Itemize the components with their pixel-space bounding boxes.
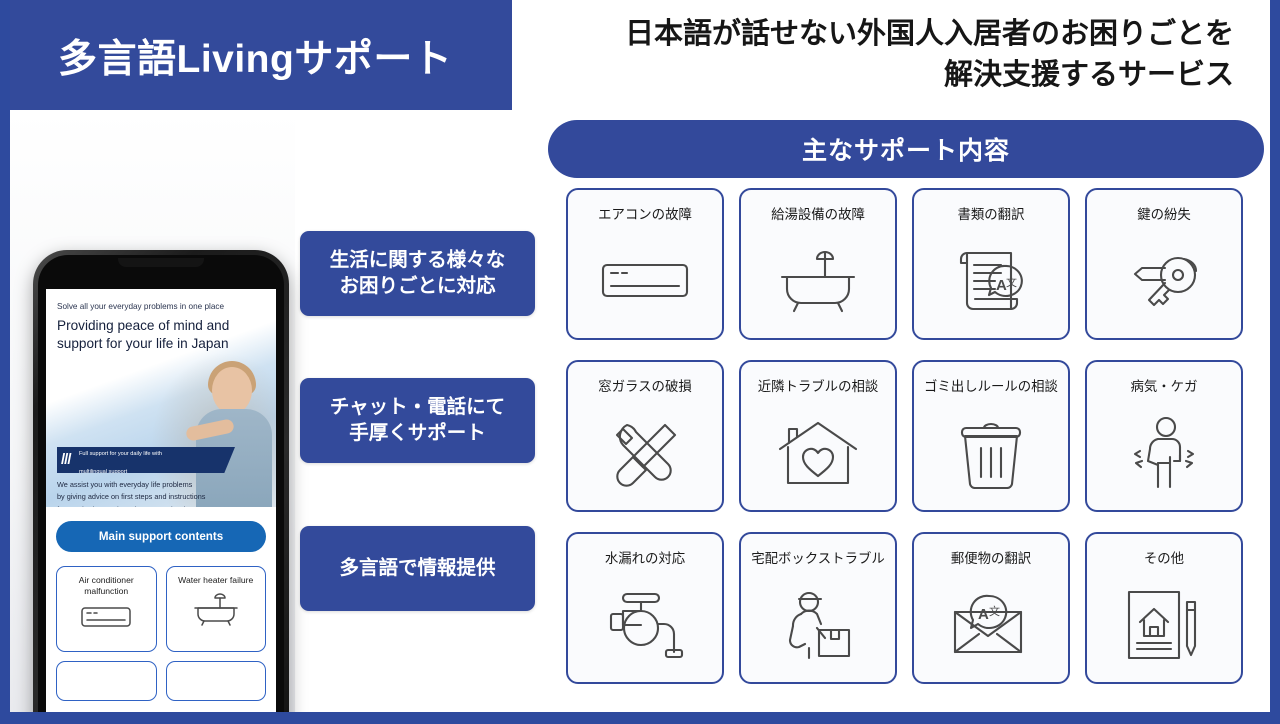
hero-note-line-2: by giving advice on first steps and inst… — [57, 491, 262, 503]
hero-text-block: Solve all your everyday problems in one … — [57, 301, 250, 353]
page-title: 多言語Livingサポート — [58, 28, 452, 84]
svg-text:文: 文 — [1006, 275, 1017, 289]
callout-line-1: 多言語で情報提供 — [339, 557, 495, 579]
callout-box: チャット・電話にて 手厚くサポート — [300, 378, 535, 463]
ribbon-line-1: Full support for your daily life with — [79, 451, 162, 457]
headline-line-1: 日本語が話せない外国人入居者のお困りごとを — [522, 14, 1234, 55]
svg-text:A: A — [978, 606, 989, 623]
support-card[interactable]: エアコンの故障 — [566, 188, 724, 340]
support-card[interactable]: ゴミ出しルールの相談 — [912, 360, 1070, 512]
hero-ribbon: /// Full support for your daily life wit… — [57, 447, 235, 473]
phone-screen: Solve all your everyday problems in one … — [46, 289, 276, 724]
support-card-label: 鍵の紛失 — [1131, 206, 1197, 224]
hero-title-line-2: support for your life in Japan — [57, 335, 250, 353]
ribbon-slash-mark: /// — [61, 451, 71, 468]
support-card-label: 郵便物の翻訳 — [945, 550, 1037, 568]
phone-mini-card-grid: Air conditioner malfunction — [56, 566, 266, 701]
callout-line-2: 手厚くサポート — [349, 422, 486, 444]
bathtub-shower-icon — [741, 224, 895, 338]
delivery-person-icon — [741, 568, 895, 682]
injured-person-icon — [1087, 396, 1241, 510]
air-conditioner-icon — [568, 224, 722, 338]
main-support-contents-button[interactable]: Main support contents — [56, 521, 266, 552]
svg-text:文: 文 — [989, 604, 1000, 618]
phone-mini-card[interactable]: Air conditioner malfunction — [56, 566, 157, 652]
support-card-label: その他 — [1138, 550, 1190, 568]
support-card-label: 病気・ケガ — [1125, 378, 1204, 396]
phone-mini-card[interactable] — [56, 661, 157, 701]
callout-line-2: お困りごとに対応 — [339, 275, 495, 297]
phone-hero: Solve all your everyday problems in one … — [46, 289, 276, 507]
support-card[interactable]: 書類の翻訳 A 文 — [912, 188, 1070, 340]
callout-box: 多言語で情報提供 — [300, 526, 535, 611]
callout-line-1: チャット・電話にて — [330, 396, 505, 418]
phone-mockup: Solve all your everyday problems in one … — [33, 250, 289, 724]
support-card[interactable]: その他 — [1085, 532, 1243, 684]
support-card-grid: エアコンの故障 給湯設備の故障 — [566, 188, 1256, 684]
support-card[interactable]: 水漏れの対応 — [566, 532, 724, 684]
support-card-label: 書類の翻訳 — [952, 206, 1031, 224]
callout-box: 生活に関する様々な お困りごとに対応 — [300, 231, 535, 316]
support-card-label: 給湯設備の故障 — [765, 206, 871, 224]
person-head — [212, 367, 252, 414]
support-card[interactable]: 鍵の紛失 — [1085, 188, 1243, 340]
support-card[interactable]: 近隣トラブルの相談 — [739, 360, 897, 512]
headline: 日本語が話せない外国人入居者のお困りごとを 解決支援するサービス — [522, 14, 1270, 96]
keys-icon — [1087, 224, 1241, 338]
hero-note: We assist you with everyday life problem… — [57, 479, 262, 507]
support-card-label: 窓ガラスの破損 — [592, 378, 697, 396]
phone-mini-card[interactable] — [166, 661, 267, 701]
phone-mini-card-label: Air conditioner malfunction — [57, 575, 156, 598]
hero-subtitle: Solve all your everyday problems in one … — [57, 301, 250, 312]
hero-title-line-1: Providing peace of mind and — [57, 317, 250, 335]
phone-body: Solve all your everyday problems in one … — [38, 255, 284, 724]
headline-line-2: 解決支援するサービス — [522, 55, 1234, 96]
support-card[interactable]: 病気・ケガ — [1085, 360, 1243, 512]
support-card[interactable]: 郵便物の翻訳 A 文 — [912, 532, 1070, 684]
hero-note-line-1: We assist you with everyday life problem… — [57, 479, 262, 491]
document-house-pen-icon — [1087, 568, 1241, 682]
left-panel: Solve all your everyday problems in one … — [10, 110, 295, 712]
support-card-label: 水漏れの対応 — [599, 550, 691, 568]
support-card-label: ゴミ出しルールの相談 — [918, 378, 1064, 396]
phone-notch — [118, 258, 204, 267]
hero-note-line-3: for required procedures in your mother l… — [57, 504, 262, 507]
support-card[interactable]: 給湯設備の故障 — [739, 188, 897, 340]
support-card-label: 近隣トラブルの相談 — [752, 378, 885, 396]
support-card[interactable]: 宅配ボックストラブル — [739, 532, 897, 684]
air-conditioner-icon — [79, 604, 133, 637]
phone-mini-card-label: Water heater failure — [174, 575, 257, 586]
envelope-translate-icon: A 文 — [914, 568, 1068, 682]
wrench-screwdriver-icon — [568, 396, 722, 510]
callout-line-1: 生活に関する様々な — [330, 249, 506, 271]
phone-mini-card[interactable]: Water heater failure — [166, 566, 267, 652]
slide-root: 多言語Livingサポート 日本語が話せない外国人入居者のお困りごとを 解決支援… — [0, 0, 1280, 724]
ribbon-line-2: multilingual support — [79, 469, 127, 475]
house-heart-icon — [741, 396, 895, 510]
support-panel: 主なサポート内容 エアコンの故障 給湯設備の故障 — [522, 110, 1270, 712]
support-card-label: エアコンの故障 — [592, 206, 698, 224]
section-banner: 主なサポート内容 — [548, 120, 1264, 178]
support-card-label: 宅配ボックストラブル — [745, 550, 891, 568]
document-translate-icon: A 文 — [914, 224, 1068, 338]
support-card[interactable]: 窓ガラスの破損 — [566, 360, 724, 512]
faucet-icon — [568, 568, 722, 682]
trash-can-icon — [914, 396, 1068, 510]
bathtub-shower-icon — [192, 592, 240, 631]
